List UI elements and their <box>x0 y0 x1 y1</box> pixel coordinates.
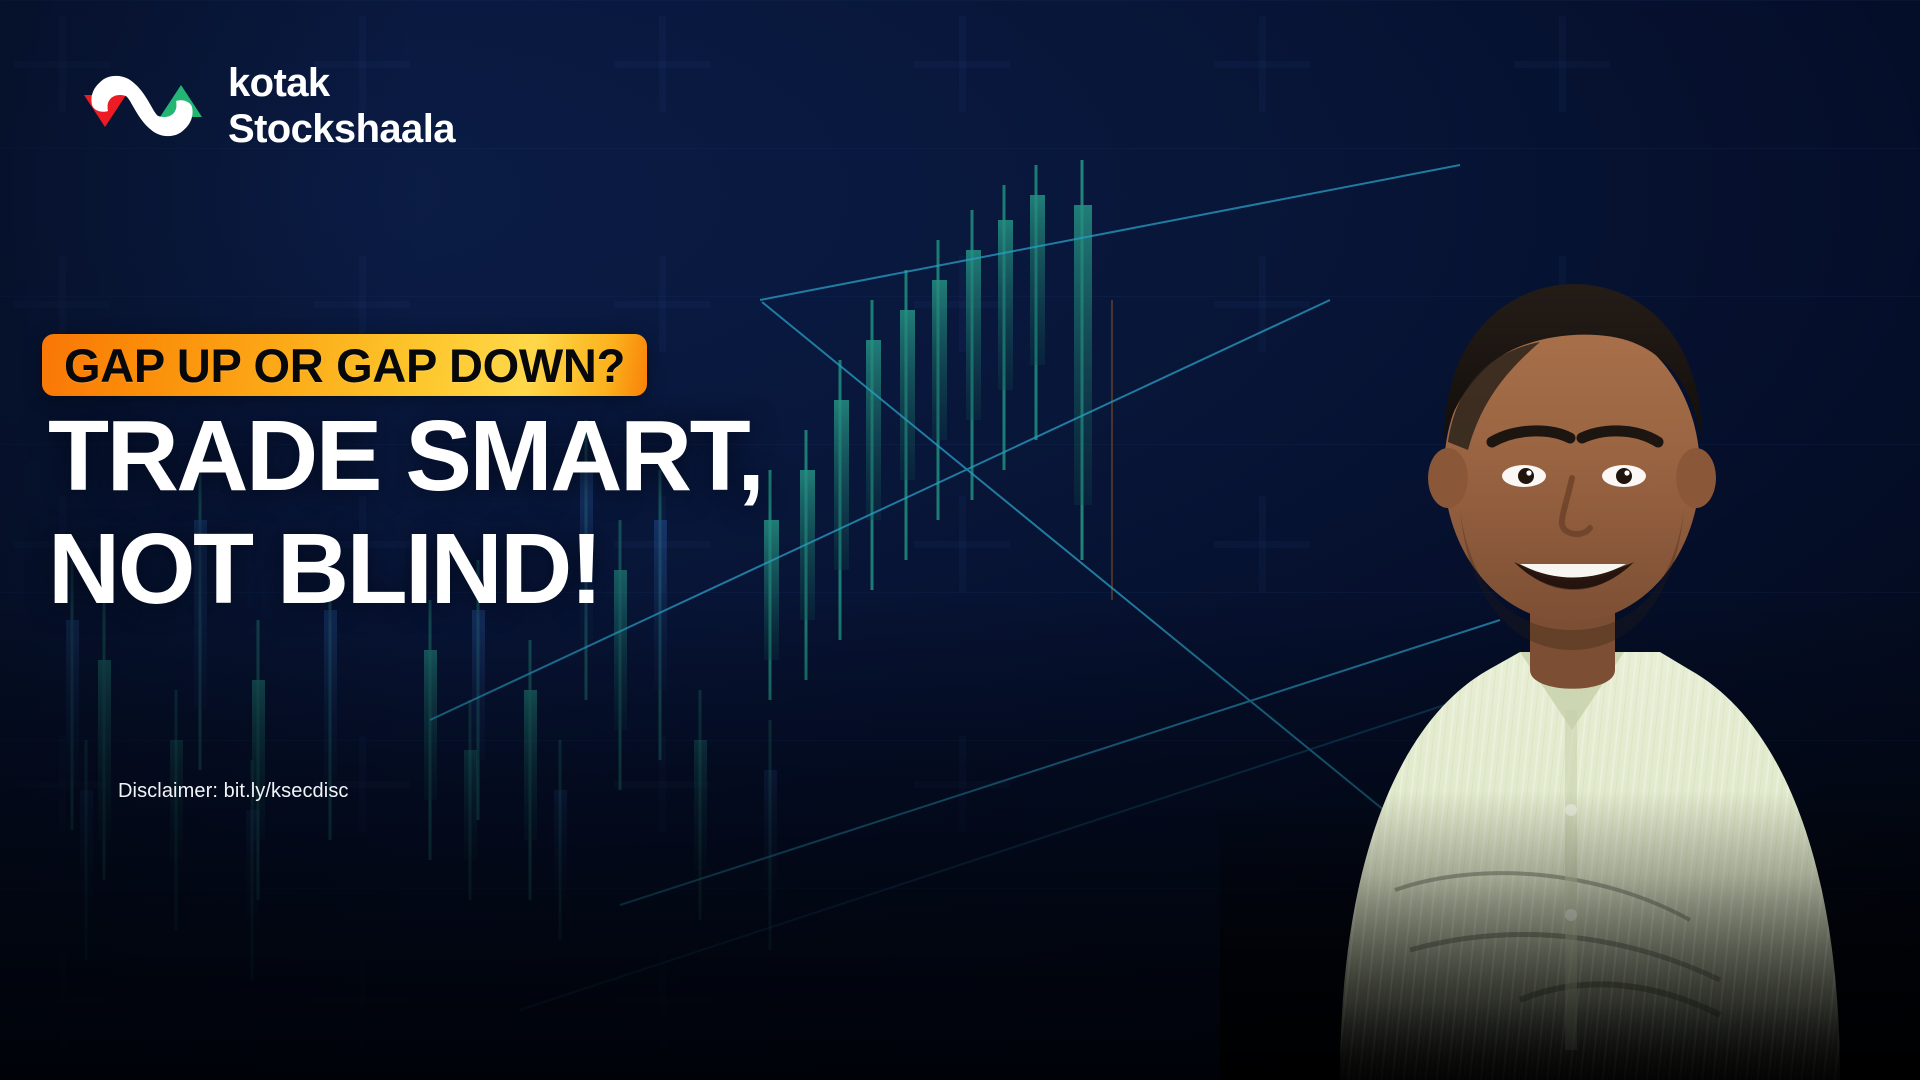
topic-badge-label: GAP UP OR GAP DOWN? <box>64 342 625 389</box>
headline-line-2: NOT BLIND! <box>48 517 762 622</box>
headline: TRADE SMART, NOT BLIND! <box>48 404 762 622</box>
brand-name-line1: kotak <box>228 63 455 103</box>
brand-name-line2: Stockshaala <box>228 109 455 149</box>
disclaimer-text: Disclaimer: bit.ly/ksecdisc <box>118 780 349 803</box>
brand-wordmark: kotak Stockshaala <box>228 63 455 149</box>
brand-logo: kotak Stockshaala <box>78 63 455 149</box>
topic-badge: GAP UP OR GAP DOWN? <box>42 334 647 396</box>
promo-banner: kotak Stockshaala GAP UP OR GAP DOWN? TR… <box>0 0 1920 1080</box>
infinity-logo-icon <box>78 65 206 147</box>
headline-line-1: TRADE SMART, <box>48 404 762 509</box>
